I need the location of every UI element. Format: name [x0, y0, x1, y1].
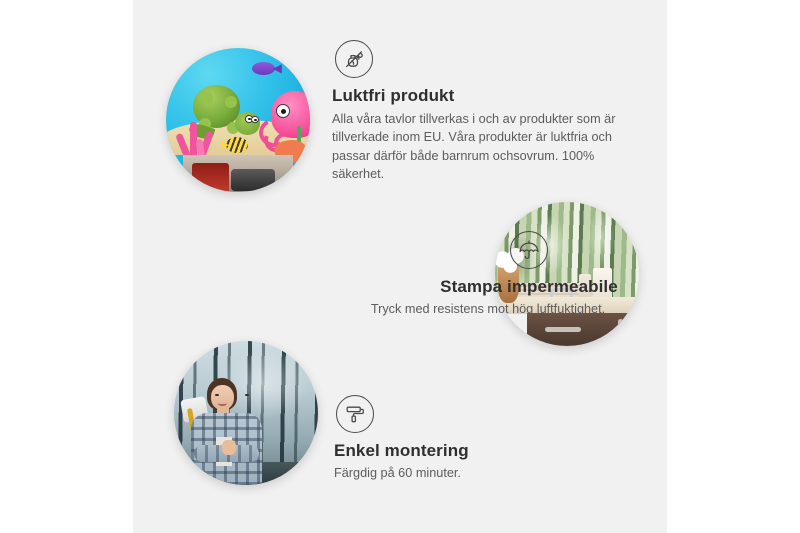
umbrella-icon: [510, 231, 548, 269]
feature-title: Enkel montering: [334, 441, 634, 461]
person-hand: [222, 440, 235, 455]
octopus-eye: [276, 104, 290, 118]
turtle-head: [235, 112, 260, 135]
underwater-cartoon-wallpaper-image: [166, 48, 310, 192]
room-interior-foreground: [183, 155, 292, 192]
octopus-head: [271, 91, 310, 138]
installer-person: [186, 378, 270, 485]
feature-description: Tryck med resistens mot hög luftfuktighe…: [293, 300, 667, 318]
promo-banner: Luktfri produkt Alla våra tavlor tillver…: [0, 0, 800, 533]
feature-title: Stampa impermeabile: [334, 277, 667, 297]
paint-roller-icon: [336, 395, 374, 433]
content-panel: Luktfri produkt Alla våra tavlor tillver…: [133, 0, 667, 533]
turtle-eye-right: [251, 116, 259, 123]
forest-wallpaper-installer-image: [174, 341, 318, 485]
feature-easy-mounting: Enkel montering Färgdig på 60 minuter.: [334, 395, 634, 482]
feature-description: Alla våra tavlor tillverkas i och av pro…: [332, 110, 616, 183]
no-fragrance-icon: [335, 40, 373, 78]
feature-odourless: Luktfri produkt Alla våra tavlor tillver…: [332, 40, 632, 183]
feature-title: Luktfri produkt: [332, 86, 632, 106]
feature-waterproof: Stampa impermeabile Tryck med resistens …: [213, 231, 603, 318]
feature-description: Färgdig på 60 minuter.: [334, 464, 634, 482]
